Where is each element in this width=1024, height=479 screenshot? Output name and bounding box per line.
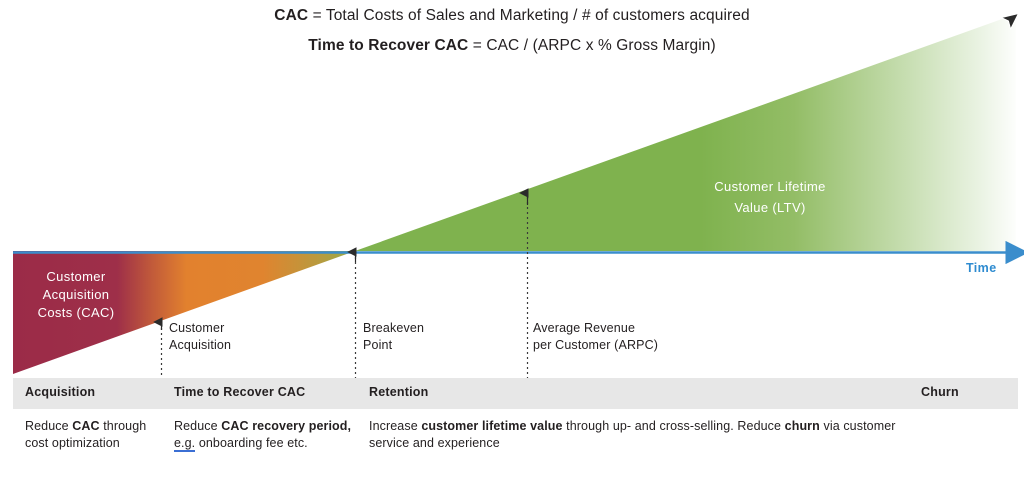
lifecycle-stage-table: Acquisition Time to Recover CAC Retentio… [13, 378, 1018, 479]
ltv-area-label: Customer Lifetime Value (LTV) [655, 176, 885, 218]
slide-canvas: CAC = Total Costs of Sales and Marketing… [0, 0, 1024, 479]
table-header-retention: Retention [369, 385, 428, 399]
cac-area-label: Customer Acquisition Costs (CAC) [13, 268, 139, 322]
table-cell-retention: Increase customer lifetime value through… [369, 418, 909, 452]
callout-customer-acquisition: Customer Acquisition [169, 320, 231, 354]
callout-breakeven-point: Breakeven Point [363, 320, 424, 354]
table-header-row [13, 378, 1018, 409]
callout-arpc: Average Revenue per Customer (ARPC) [533, 320, 658, 354]
callout-customer-acquisition-line1: Customer [169, 320, 231, 337]
table-header-churn: Churn [921, 385, 959, 399]
table-header-time-to-recover-cac: Time to Recover CAC [174, 385, 305, 399]
callout-customer-acquisition-line2: Acquisition [169, 337, 231, 354]
ltv-area-label-line1: Customer Lifetime [655, 176, 885, 197]
callout-arpc-line1: Average Revenue [533, 320, 658, 337]
callout-breakeven-line1: Breakeven [363, 320, 424, 337]
cac-area-label-line3: Costs (CAC) [13, 304, 139, 322]
cac-area-label-line1: Customer [13, 268, 139, 286]
table-header-acquisition: Acquisition [25, 385, 95, 399]
table-cell-time-to-recover-cac: Reduce CAC recovery period, e.g. onboard… [174, 418, 359, 452]
ltv-area-label-line2: Value (LTV) [655, 197, 885, 218]
time-axis-label: Time [966, 261, 997, 275]
callout-arpc-line2: per Customer (ARPC) [533, 337, 658, 354]
cac-area-label-line2: Acquisition [13, 286, 139, 304]
table-cell-acquisition: Reduce CAC through cost optimization [25, 418, 165, 452]
mouse-pointer-icon [998, 12, 1020, 32]
callout-breakeven-line2: Point [363, 337, 424, 354]
